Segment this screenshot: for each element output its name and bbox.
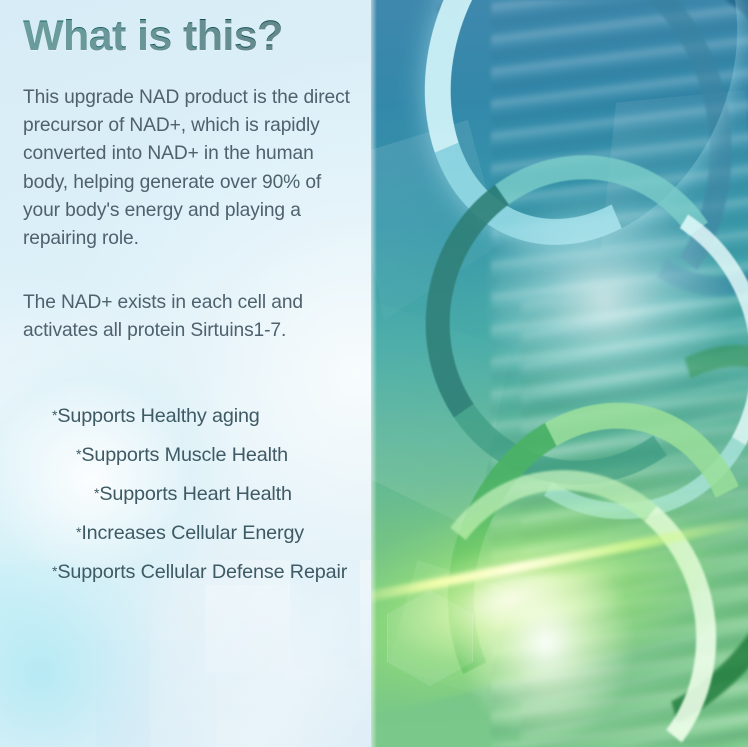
- energy-glow-core: [456, 575, 636, 745]
- product-infographic: What is this? This upgrade NAD product i…: [0, 0, 748, 747]
- description-paragraph-secondary: The NAD+ exists in each cell and activat…: [23, 289, 353, 344]
- list-item: *Supports Healthy aging: [0, 396, 371, 435]
- benefit-label: Supports Heart Health: [99, 483, 292, 505]
- panel-divider: [371, 0, 377, 747]
- dna-helix-image: [371, 0, 748, 747]
- list-item: *Increases Cellular Energy: [0, 513, 371, 552]
- list-item: *Supports Cellular Defense Repair: [0, 552, 371, 591]
- benefit-label: Supports Cellular Defense Repair: [57, 561, 347, 583]
- description-paragraph-primary: This upgrade NAD product is the direct p…: [23, 84, 353, 253]
- list-item: *Supports Heart Health: [0, 474, 371, 513]
- benefit-label: Increases Cellular Energy: [81, 522, 304, 544]
- background-facet: [205, 585, 301, 673]
- background-facet: [96, 640, 216, 747]
- benefit-label: Supports Healthy aging: [57, 405, 259, 427]
- benefit-label: Supports Muscle Health: [81, 444, 288, 466]
- list-item: *Supports Muscle Health: [0, 435, 371, 474]
- text-panel: What is this? This upgrade NAD product i…: [0, 0, 371, 747]
- page-title: What is this?: [23, 14, 283, 59]
- benefits-list: *Supports Healthy aging *Supports Muscle…: [0, 396, 371, 591]
